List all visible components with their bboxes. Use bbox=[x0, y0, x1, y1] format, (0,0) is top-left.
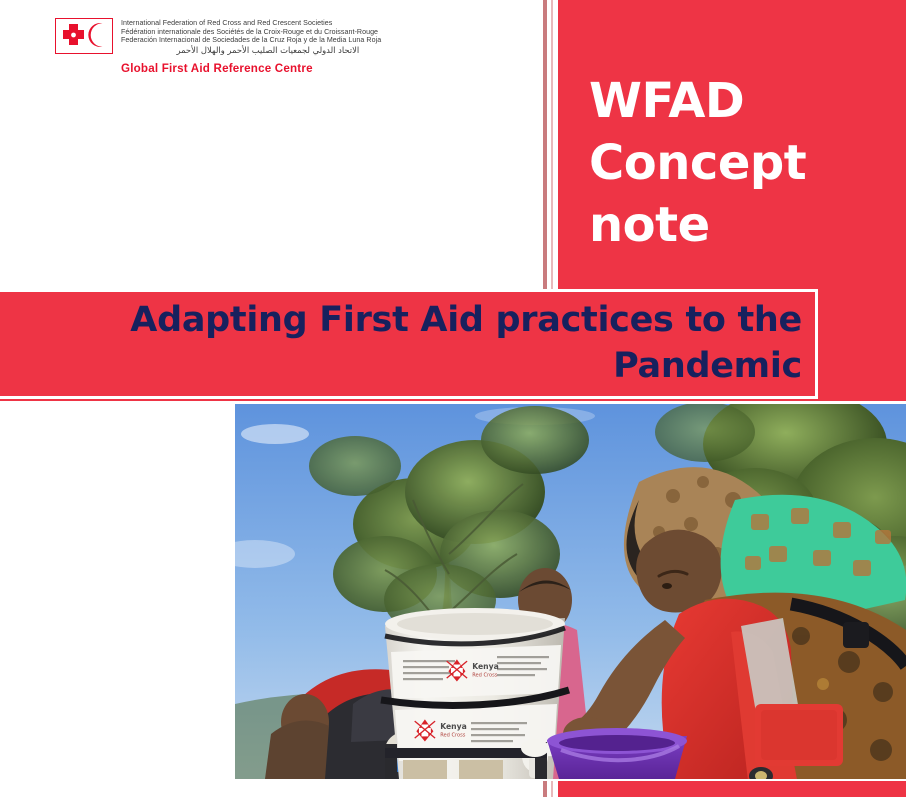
ifrc-logo-text: International Federation of Red Cross an… bbox=[121, 18, 381, 76]
vertical-accent-rule-inner-bottom bbox=[551, 781, 553, 797]
ifrc-name-es: Federación Internacional de Sociedades d… bbox=[121, 36, 381, 45]
vertical-accent-rule-outer bbox=[543, 0, 547, 289]
ifrc-name-ar: الاتحاد الدولي لجمعيات الصليب الأحمر وال… bbox=[121, 45, 381, 56]
ifrc-logo: International Federation of Red Cross an… bbox=[55, 18, 381, 76]
document-title: WFAD Concept note bbox=[589, 70, 889, 256]
vertical-accent-rule-inner bbox=[551, 0, 553, 289]
svg-text:Kenya: Kenya bbox=[472, 662, 499, 671]
cover-photo: Kenya Red Cross Kenya Red Cross bbox=[235, 404, 906, 779]
cover-page: International Federation of Red Cross an… bbox=[0, 0, 906, 797]
document-subtitle: Adapting First Aid practices to the Pand… bbox=[30, 297, 802, 389]
footer-red-panel bbox=[558, 781, 906, 797]
svg-text:Red Cross: Red Cross bbox=[472, 672, 498, 678]
gfarc-tagline: Global First Aid Reference Centre bbox=[121, 62, 381, 76]
ifrc-name-en: International Federation of Red Cross an… bbox=[121, 19, 381, 28]
vertical-accent-rule-outer-bottom bbox=[543, 781, 547, 797]
cover-photo-illustration: Kenya Red Cross Kenya Red Cross bbox=[235, 404, 906, 779]
red-cross-red-crescent-emblem-icon bbox=[55, 18, 113, 54]
svg-text:Red Cross: Red Cross bbox=[440, 732, 466, 738]
ifrc-name-fr: Fédération internationale des Sociétés d… bbox=[121, 28, 381, 37]
svg-text:Kenya: Kenya bbox=[440, 722, 467, 731]
